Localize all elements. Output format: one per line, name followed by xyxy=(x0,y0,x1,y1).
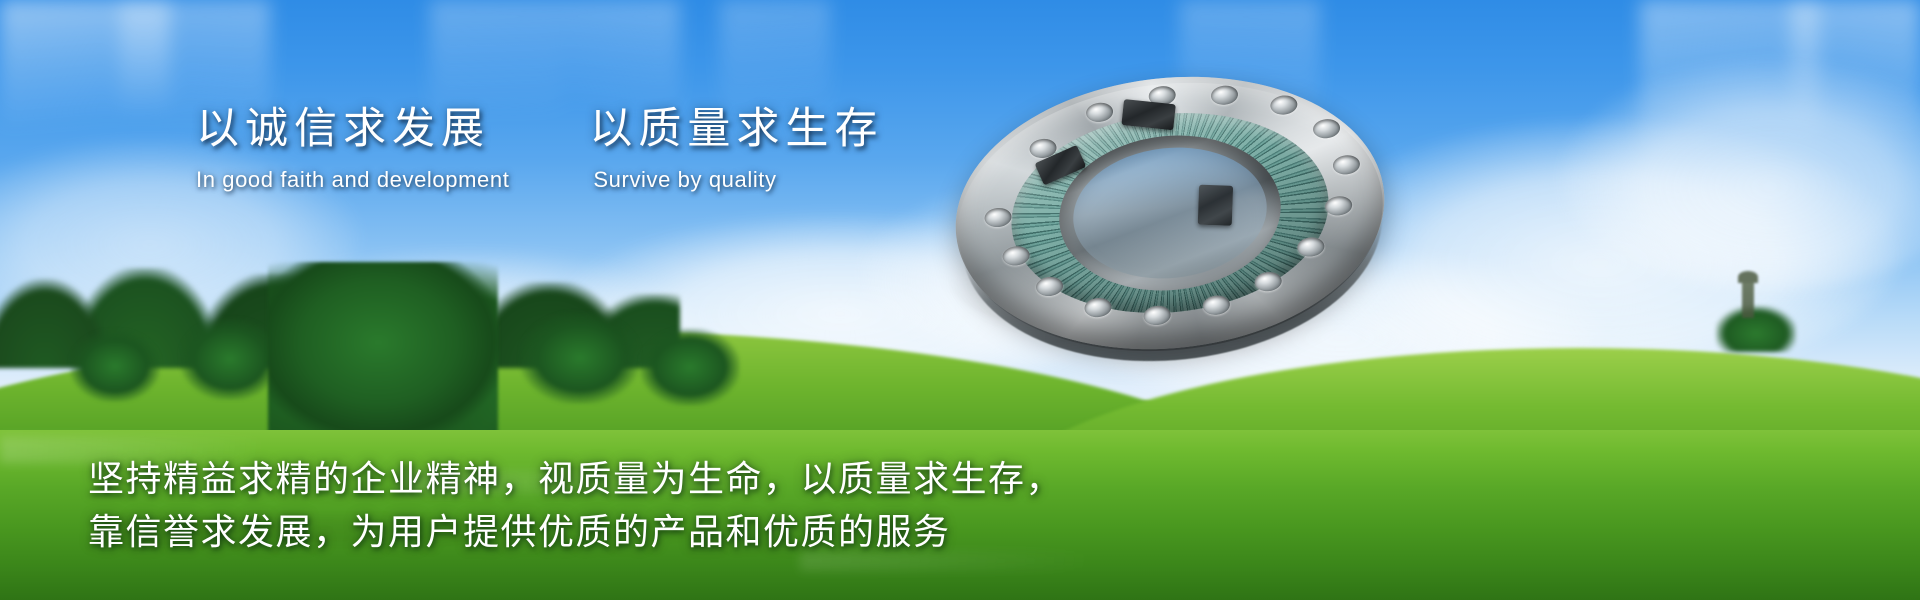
slogan-block-1: 以诚信求发展 In good faith and development xyxy=(196,104,509,193)
distant-bush xyxy=(1716,306,1796,352)
slogan-chinese-1: 以诚信求发展 xyxy=(196,104,509,155)
tagline-block: 坚持精益求精的企业精神，视质量为生命，以质量求生存， 靠信誉求发展，为用户提供优… xyxy=(88,452,1188,559)
tagline-line-2: 靠信誉求发展，为用户提供优质的产品和优质的服务 xyxy=(88,505,1188,558)
tree xyxy=(520,312,640,404)
tagline-line-1: 坚持精益求精的企业精神，视质量为生命，以质量求生存， xyxy=(88,452,1188,505)
metal-fixture xyxy=(1198,185,1233,226)
slogan-chinese-2: 以质量求生存 xyxy=(589,104,883,155)
slogan-row: 以诚信求发展 In good faith and development 以质量… xyxy=(196,104,883,193)
tree-large xyxy=(268,262,498,437)
slogan-english-1: In good faith and development xyxy=(196,167,509,193)
slogan-block-2: 以质量求生存 Survive by quality xyxy=(589,104,883,193)
tree xyxy=(640,328,740,406)
tree xyxy=(180,318,280,400)
tree xyxy=(70,330,160,402)
product-image-slewing-bearing xyxy=(942,56,1398,369)
metal-fixture xyxy=(1121,99,1175,130)
promo-banner: 以诚信求发展 In good faith and development 以质量… xyxy=(0,0,1920,600)
slogan-english-2: Survive by quality xyxy=(593,167,883,193)
distant-tower xyxy=(1742,278,1754,318)
